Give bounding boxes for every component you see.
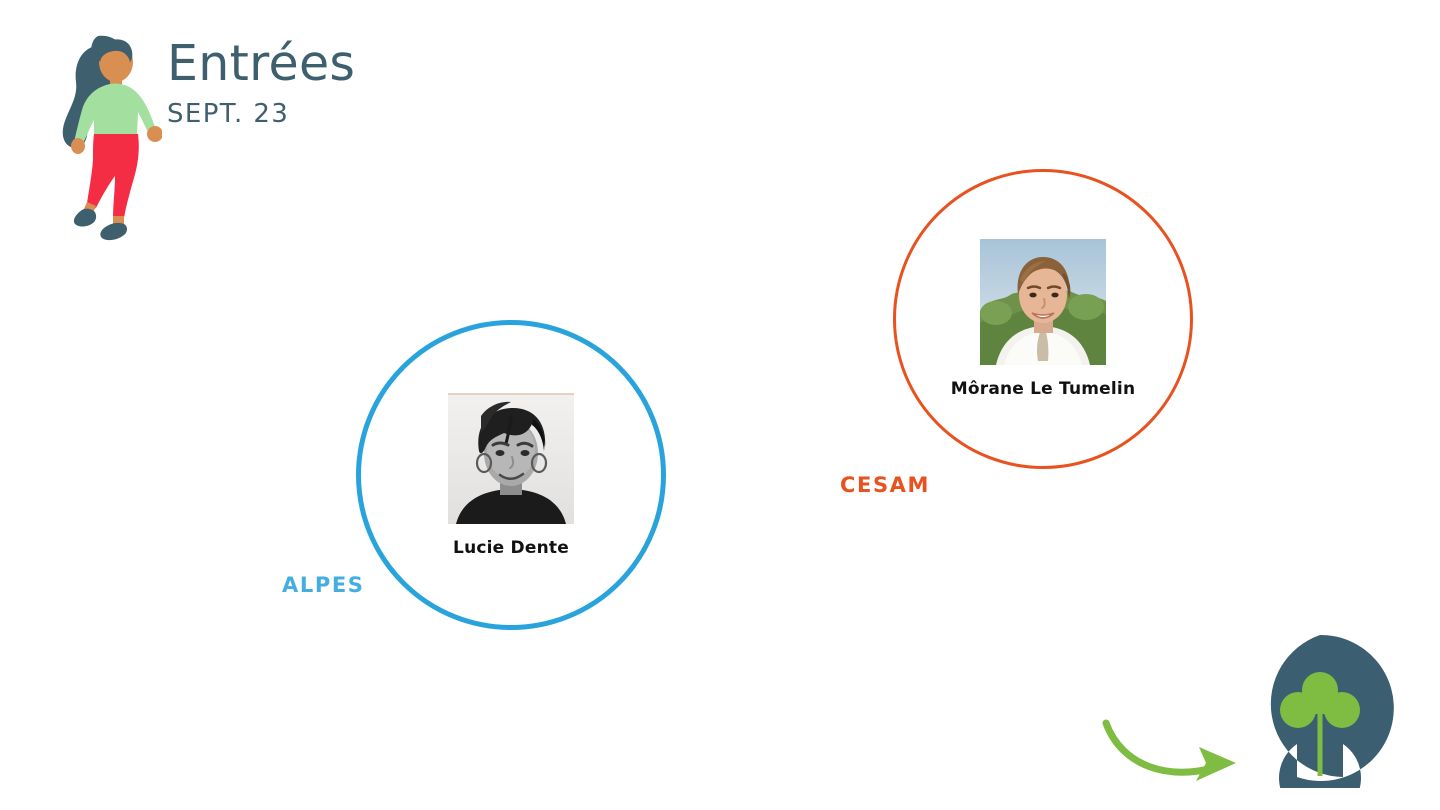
person-node-alpes[interactable]: Lucie Dente [356,320,666,630]
header-text-block: Entrées SEPT. 23 [167,39,355,129]
person-content-cesam: Môrane Le Tumelin [893,169,1193,469]
walking-woman-icon [42,24,162,244]
person-node-cesam[interactable]: Môrane Le Tumelin [893,169,1193,469]
curved-arrow-right-icon [1100,705,1260,800]
group-label-alpes: ALPES [282,573,365,597]
tree-clover-ring-logo-icon [1240,628,1400,788]
avatar-lucie-dente [448,393,574,524]
person-content-alpes: Lucie Dente [356,320,666,630]
person-name-cesam: Môrane Le Tumelin [951,379,1136,399]
page-title: Entrées [167,39,355,88]
group-label-cesam: CESAM [840,473,930,497]
avatar-morane-le-tumelin [980,239,1106,365]
person-name-alpes: Lucie Dente [453,538,569,558]
slide-canvas: Entrées SEPT. 23 [0,0,1440,810]
slide-header: Entrées SEPT. 23 [42,24,462,244]
page-subtitle: SEPT. 23 [167,99,355,129]
